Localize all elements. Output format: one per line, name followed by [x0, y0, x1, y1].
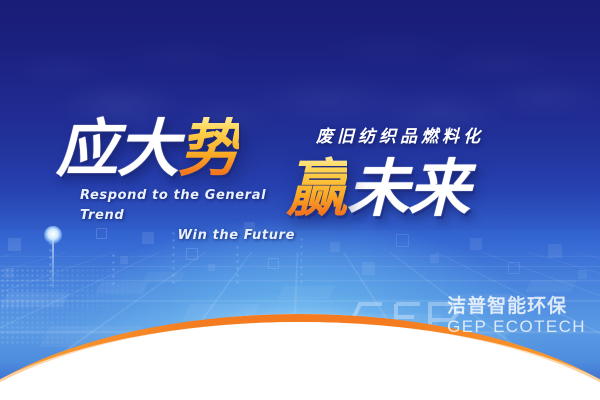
- floating-square: [142, 232, 154, 244]
- floating-square: [330, 242, 340, 252]
- floating-square: [362, 262, 375, 275]
- background-veil: [0, 0, 600, 230]
- dot-column: [172, 230, 175, 286]
- floating-square: [578, 270, 587, 279]
- floating-square: [396, 234, 409, 247]
- floating-square: [186, 248, 198, 260]
- floating-square: [208, 264, 215, 271]
- promo-banner: 应大势 赢未来 废旧纺织品燃料化 Respond to the General …: [0, 0, 600, 400]
- floating-square: [120, 256, 128, 264]
- floating-square: [8, 238, 21, 251]
- street-lamp-icon: [44, 226, 62, 244]
- dot-column: [112, 252, 115, 288]
- floating-square: [508, 262, 520, 274]
- dot-field-lower-left: [0, 300, 110, 346]
- floating-square: [470, 238, 482, 250]
- floating-square: [96, 228, 107, 239]
- floating-square: [548, 244, 562, 258]
- floating-square: [268, 258, 279, 269]
- dot-column: [300, 236, 303, 286]
- floating-square: [4, 268, 14, 278]
- floating-square: [430, 254, 439, 263]
- floating-square: [244, 222, 255, 233]
- dot-column: [236, 244, 239, 284]
